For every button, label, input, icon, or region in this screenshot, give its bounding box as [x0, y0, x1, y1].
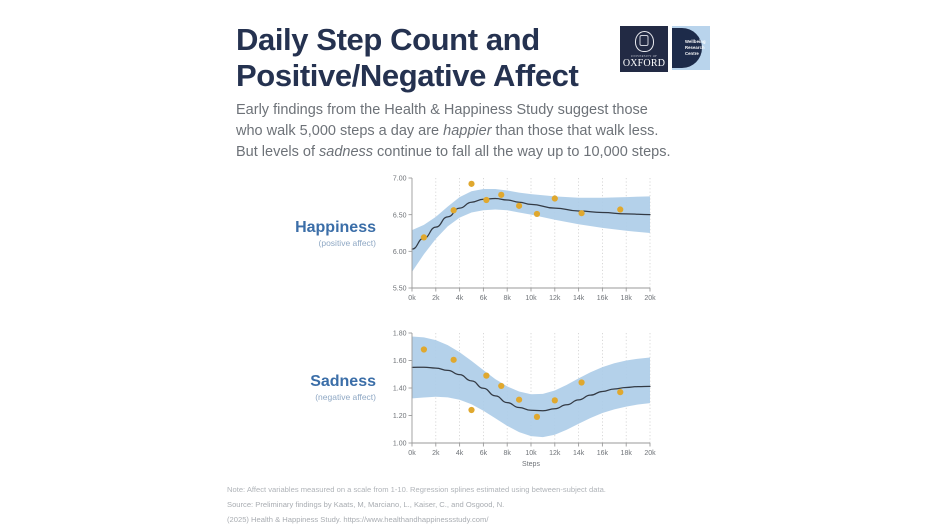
- x-tick-label-sadness: 12k: [549, 450, 561, 457]
- wrc-logo-line-3: Centre: [685, 51, 706, 57]
- chart-svg-happiness: 5.506.006.507.000k2k4k6k8k10k12k14k16k18…: [386, 170, 658, 310]
- footnotes: Note: Affect variables measured on a sca…: [227, 483, 727, 527]
- x-tick-label-sadness: 2k: [432, 450, 440, 457]
- data-point: [451, 207, 457, 213]
- y-tick-label-sadness: 1.00: [393, 441, 407, 448]
- chart-label-happiness-subtitle: (positive affect): [196, 238, 376, 249]
- subtitle-emphasis-sadness: sadness: [319, 144, 373, 160]
- chart-label-sadness-title: Sadness: [196, 373, 376, 391]
- x-tick-label-sadness: 4k: [456, 450, 464, 457]
- y-tick-label-sadness: 1.80: [393, 331, 407, 338]
- data-point: [483, 373, 489, 379]
- x-axis-label-sadness: Steps: [522, 461, 540, 468]
- x-tick-label-happiness: 4k: [456, 295, 464, 302]
- logo-group: UNIVERSITY OF OXFORD Wellbeing Research …: [620, 26, 710, 72]
- y-tick-label-sadness: 1.20: [393, 413, 407, 420]
- data-point: [483, 197, 489, 203]
- data-point: [451, 357, 457, 363]
- chart-svg-sadness: 1.001.201.401.601.800k2k4k6k8k10k12k14k1…: [386, 325, 658, 477]
- chart-label-sadness-subtitle: (negative affect): [196, 392, 376, 403]
- x-tick-label-happiness: 16k: [597, 295, 609, 302]
- x-tick-label-happiness: 10k: [525, 295, 537, 302]
- footnote-source: Source: Preliminary findings by Kaats, M…: [227, 498, 727, 513]
- subtitle-line-1: Early findings from the Health & Happine…: [236, 102, 648, 118]
- x-tick-label-happiness: 0k: [408, 295, 416, 302]
- y-tick-label-sadness: 1.60: [393, 358, 407, 365]
- data-point: [421, 234, 427, 240]
- data-point: [617, 206, 623, 212]
- subtitle-emphasis-happier: happier: [443, 123, 491, 139]
- subtitle: Early findings from the Health & Happine…: [236, 100, 726, 163]
- data-point: [578, 379, 584, 385]
- x-tick-label-sadness: 20k: [644, 450, 656, 457]
- chart-label-sadness: Sadness (negative affect): [196, 373, 376, 403]
- data-point: [468, 181, 474, 187]
- oxford-logo-name: OXFORD: [623, 59, 665, 69]
- confidence-band-happiness: [412, 189, 650, 272]
- chart-sadness: 1.001.201.401.601.800k2k4k6k8k10k12k14k1…: [386, 325, 658, 482]
- subtitle-line-2b: than those that walk less.: [492, 123, 659, 139]
- page-title-line-1: Daily Step Count and: [236, 22, 636, 58]
- x-tick-label-happiness: 20k: [644, 295, 656, 302]
- x-tick-label-sadness: 6k: [480, 450, 488, 457]
- data-point: [498, 383, 504, 389]
- subtitle-line-3b: continue to fall all the way up to 10,00…: [373, 144, 670, 160]
- chart-label-happiness-title: Happiness: [196, 219, 376, 237]
- x-tick-label-sadness: 16k: [597, 450, 609, 457]
- data-point: [552, 397, 558, 403]
- data-point: [498, 192, 504, 198]
- data-point: [516, 203, 522, 209]
- oxford-logo: UNIVERSITY OF OXFORD: [620, 26, 668, 72]
- x-tick-label-happiness: 18k: [621, 295, 633, 302]
- oxford-crest-icon: [635, 31, 654, 52]
- data-point: [516, 397, 522, 403]
- data-point: [421, 346, 427, 352]
- y-tick-label-happiness: 7.00: [393, 176, 407, 183]
- x-tick-label-happiness: 2k: [432, 295, 440, 302]
- y-tick-label-happiness: 6.00: [393, 249, 407, 256]
- y-tick-label-happiness: 5.50: [393, 286, 407, 293]
- wrc-logo-text: Wellbeing Research Centre: [685, 39, 706, 57]
- data-point: [468, 407, 474, 413]
- data-point: [617, 389, 623, 395]
- x-tick-label-sadness: 18k: [621, 450, 633, 457]
- chart-happiness: 5.506.006.507.000k2k4k6k8k10k12k14k16k18…: [386, 170, 658, 315]
- x-tick-label-sadness: 10k: [525, 450, 537, 457]
- wellbeing-research-centre-logo: Wellbeing Research Centre: [672, 26, 710, 70]
- data-point: [552, 195, 558, 201]
- x-tick-label-happiness: 14k: [573, 295, 585, 302]
- subtitle-line-2a: who walk 5,000 steps a day are: [236, 123, 443, 139]
- page-title-line-2: Positive/Negative Affect: [236, 58, 636, 94]
- footnote-source-continued: (2025) Health & Happiness Study. https:/…: [227, 513, 727, 528]
- footnote-note: Note: Affect variables measured on a sca…: [227, 483, 727, 498]
- y-tick-label-sadness: 1.40: [393, 386, 407, 393]
- data-point: [534, 414, 540, 420]
- x-tick-label-happiness: 12k: [549, 295, 561, 302]
- x-tick-label-happiness: 6k: [480, 295, 488, 302]
- data-point: [578, 210, 584, 216]
- subtitle-line-3a: But levels of: [236, 144, 319, 160]
- x-tick-label-sadness: 8k: [503, 450, 511, 457]
- infographic-canvas: Daily Step Count and Positive/Negative A…: [0, 0, 949, 530]
- page-title: Daily Step Count and Positive/Negative A…: [236, 22, 636, 94]
- y-tick-label-happiness: 6.50: [393, 212, 407, 219]
- x-tick-label-happiness: 8k: [503, 295, 511, 302]
- data-point: [534, 211, 540, 217]
- x-tick-label-sadness: 0k: [408, 450, 416, 457]
- chart-label-happiness: Happiness (positive affect): [196, 219, 376, 249]
- confidence-band-sadness: [412, 336, 650, 437]
- x-tick-label-sadness: 14k: [573, 450, 585, 457]
